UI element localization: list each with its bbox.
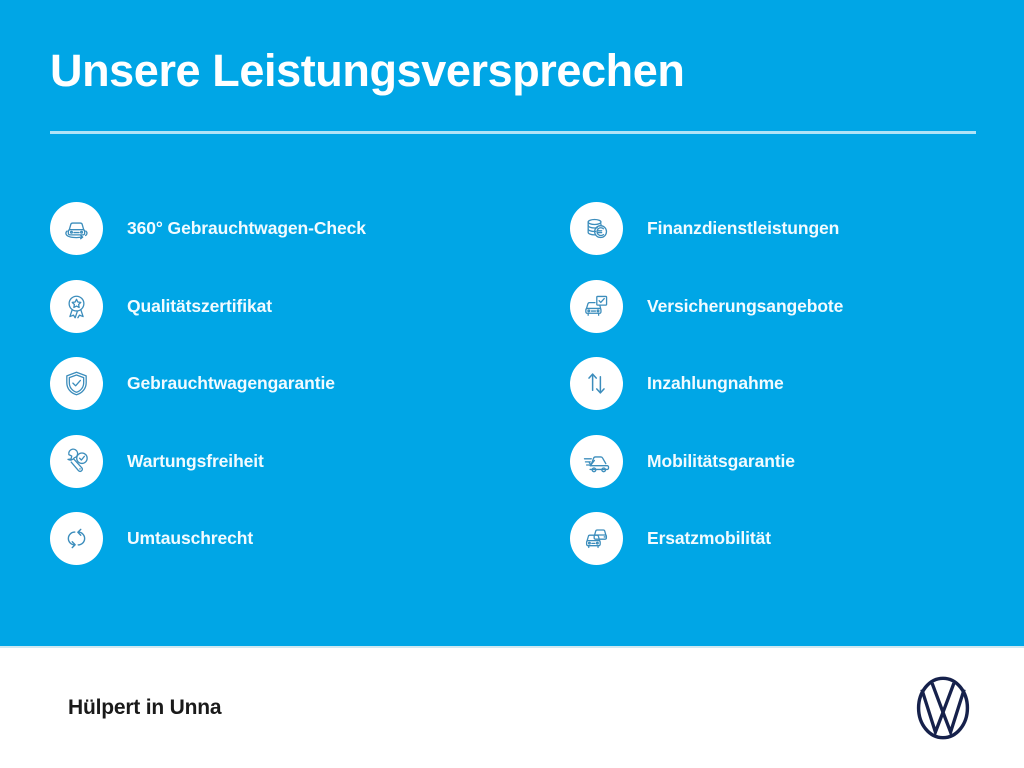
benefit-item-exchange-right: Umtauschrecht (50, 500, 570, 578)
benefits-column-left: 360° Gebrauchtwagen-Check Qualitätszerti… (50, 190, 570, 578)
benefit-label: 360° Gebrauchtwagen-Check (127, 218, 366, 239)
benefit-label: Gebrauchtwagengarantie (127, 373, 335, 394)
benefit-label: Umtauschrecht (127, 528, 253, 549)
benefit-label: Inzahlungnahme (647, 373, 784, 394)
shield-check-icon (50, 357, 103, 410)
benefits-column-right: Finanzdienstleistungen (570, 190, 976, 578)
benefit-label: Wartungsfreiheit (127, 451, 264, 472)
car-motion-icon (570, 435, 623, 488)
benefits-grid: 360° Gebrauchtwagen-Check Qualitätszerti… (50, 190, 976, 578)
title-divider (50, 131, 976, 134)
car-360-check-icon (50, 202, 103, 255)
slide-root: Unsere Leistungsversprechen (0, 0, 1024, 768)
coins-euro-icon (570, 202, 623, 255)
benefit-item-warranty: Gebrauchtwagengarantie (50, 345, 570, 423)
wrench-check-icon (50, 435, 103, 488)
benefit-item-360-check: 360° Gebrauchtwagen-Check (50, 190, 570, 268)
benefit-item-maintenance-free: Wartungsfreiheit (50, 423, 570, 501)
benefit-label: Mobilitätsgarantie (647, 451, 795, 472)
award-rosette-icon (50, 280, 103, 333)
dealer-name: Hülpert in Unna (68, 696, 221, 720)
volkswagen-logo (910, 675, 976, 741)
two-cars-icon (570, 512, 623, 565)
benefit-item-quality-certificate: Qualitätszertifikat (50, 268, 570, 346)
footer-bar: Hülpert in Unna (0, 646, 1024, 768)
hero-content: Unsere Leistungsversprechen (50, 0, 976, 646)
benefit-item-mobility-guarantee: Mobilitätsgarantie (570, 423, 976, 501)
benefit-label: Versicherungsangebote (647, 296, 843, 317)
hero-panel: Unsere Leistungsversprechen (0, 0, 1024, 646)
benefit-item-replacement-mobility: Ersatzmobilität (570, 500, 976, 578)
arrows-up-down-icon (570, 357, 623, 410)
benefit-label: Finanzdienstleistungen (647, 218, 839, 239)
benefit-item-insurance-offers: Versicherungsangebote (570, 268, 976, 346)
page-title: Unsere Leistungsversprechen (50, 47, 684, 96)
exchange-arrows-icon (50, 512, 103, 565)
benefit-label: Ersatzmobilität (647, 528, 771, 549)
benefit-item-financial-services: Finanzdienstleistungen (570, 190, 976, 268)
benefit-item-trade-in: Inzahlungnahme (570, 345, 976, 423)
benefit-label: Qualitätszertifikat (127, 296, 272, 317)
car-document-check-icon (570, 280, 623, 333)
